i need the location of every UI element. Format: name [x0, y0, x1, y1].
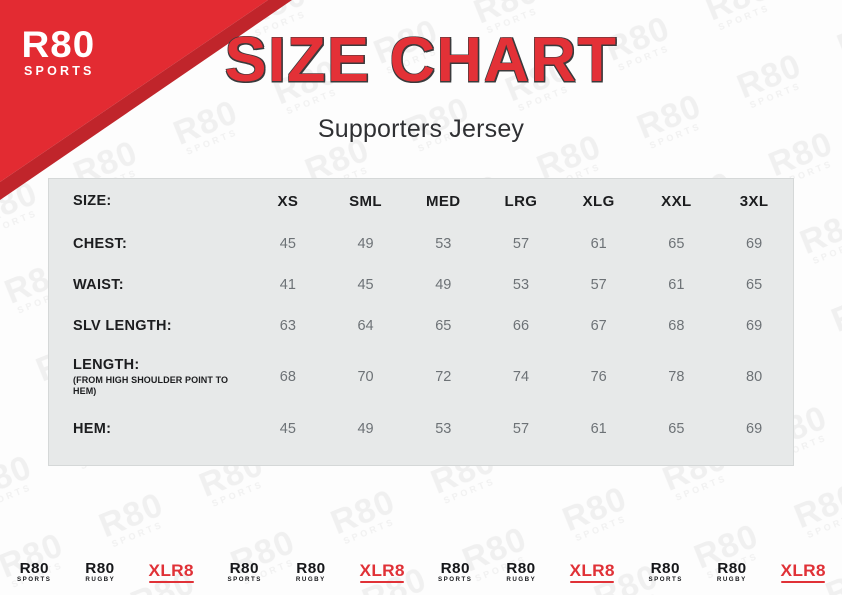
measurement-value: 61: [638, 264, 716, 305]
measurement-value: 61: [560, 223, 638, 264]
measurement-value: 68: [249, 346, 327, 408]
title-block: SIZE CHART Supporters Jersey: [0, 0, 842, 144]
footer-logo-underline: [570, 581, 614, 583]
table-row: HEM:45495357616569: [49, 408, 793, 449]
footer-logo-main: R80: [227, 561, 262, 576]
footer-logo-r80-sports: R80SPORTS: [17, 561, 51, 583]
footer-logo-main: XLR8: [359, 562, 404, 579]
measurement-value: 63: [249, 305, 327, 346]
footer-logo-sub: RUGBY: [85, 577, 115, 583]
row-label: LENGTH:(FROM HIGH SHOULDER POINT TO HEM): [49, 346, 249, 408]
measurement-value: 57: [482, 223, 560, 264]
size-column-header-med: MED: [404, 179, 482, 223]
footer-logo-sub: SPORTS: [438, 577, 472, 583]
size-header-label: SIZE:: [49, 179, 249, 223]
footer-logo-r80-sports: R80SPORTS: [227, 561, 261, 583]
size-column-header-xlg: XLG: [560, 179, 638, 223]
footer-logo-xlr8: XLR8: [570, 562, 614, 583]
footer-logo-underline: [149, 581, 193, 583]
footer-logo-r80-rugby: R80RUGBY: [296, 561, 326, 583]
footer-logo-main: R80: [648, 561, 683, 576]
measurement-value: 69: [715, 408, 793, 449]
footer-logo-strip: R80SPORTSR80RUGBYXLR8R80SPORTSR80RUGBYXL…: [0, 549, 842, 595]
footer-logo-sub: SPORTS: [648, 577, 682, 583]
table-header-row: SIZE:XSSMLMEDLRGXLGXXL3XL: [49, 179, 793, 223]
size-column-header-xs: XS: [249, 179, 327, 223]
footer-logo-sub: RUGBY: [717, 577, 747, 583]
footer-logo-sub: RUGBY: [506, 577, 536, 583]
footer-logo-xlr8: XLR8: [149, 562, 193, 583]
measurement-value: 49: [327, 223, 405, 264]
measurement-value: 49: [404, 264, 482, 305]
measurement-value: 61: [560, 408, 638, 449]
size-column-header-xxl: XXL: [638, 179, 716, 223]
measurement-value: 41: [249, 264, 327, 305]
footer-logo-sub: RUGBY: [296, 577, 326, 583]
measurement-value: 78: [638, 346, 716, 408]
size-chart-table-container: SIZE:XSSMLMEDLRGXLGXXL3XLCHEST:454953576…: [48, 178, 794, 466]
measurement-value: 65: [715, 264, 793, 305]
table-row: WAIST:41454953576165: [49, 264, 793, 305]
measurement-value: 57: [482, 408, 560, 449]
measurement-value: 70: [327, 346, 405, 408]
footer-logo-xlr8: XLR8: [360, 562, 404, 583]
measurement-value: 74: [482, 346, 560, 408]
size-column-header-3xl: 3XL: [715, 179, 793, 223]
measurement-value: 45: [249, 223, 327, 264]
measurement-value: 69: [715, 305, 793, 346]
measurement-value: 64: [327, 305, 405, 346]
footer-logo-xlr8: XLR8: [781, 562, 825, 583]
footer-logo-main: R80: [17, 561, 52, 576]
table-row: CHEST:45495357616569: [49, 223, 793, 264]
footer-logo-r80-sports: R80SPORTS: [438, 561, 472, 583]
measurement-value: 53: [404, 408, 482, 449]
size-column-header-sml: SML: [327, 179, 405, 223]
footer-logo-main: XLR8: [780, 562, 825, 579]
measurement-value: 66: [482, 305, 560, 346]
row-label-text: SLV LENGTH:: [73, 318, 172, 334]
table-row: SLV LENGTH:63646566676869: [49, 305, 793, 346]
footer-logo-main: R80: [438, 561, 473, 576]
measurement-value: 80: [715, 346, 793, 408]
row-label-text: CHEST:: [73, 236, 127, 252]
measurement-value: 65: [404, 305, 482, 346]
row-label-note: (FROM HIGH SHOULDER POINT TO HEM): [73, 375, 249, 398]
row-label: WAIST:: [49, 264, 249, 305]
measurement-value: 45: [249, 408, 327, 449]
measurement-value: 68: [638, 305, 716, 346]
footer-logo-main: R80: [85, 561, 115, 576]
measurement-value: 53: [482, 264, 560, 305]
footer-logo-main: XLR8: [149, 562, 194, 579]
measurement-value: 53: [404, 223, 482, 264]
row-label: SLV LENGTH:: [49, 305, 249, 346]
footer-logo-underline: [360, 581, 404, 583]
footer-logo-r80-rugby: R80RUGBY: [85, 561, 115, 583]
measurement-value: 69: [715, 223, 793, 264]
measurement-value: 65: [638, 408, 716, 449]
footer-logo-main: XLR8: [570, 562, 615, 579]
row-label-text: HEM:: [73, 421, 111, 437]
measurement-value: 76: [560, 346, 638, 408]
measurement-value: 45: [327, 264, 405, 305]
row-label-text: WAIST:: [73, 277, 124, 293]
page-title: SIZE CHART: [0, 24, 842, 96]
row-label: CHEST:: [49, 223, 249, 264]
footer-logo-main: R80: [296, 561, 326, 576]
size-chart-table: SIZE:XSSMLMEDLRGXLGXXL3XLCHEST:454953576…: [49, 179, 793, 495]
footer-logo-main: R80: [717, 561, 747, 576]
footer-logo-r80-rugby: R80RUGBY: [717, 561, 747, 583]
size-chart-page: R80 SPORTS R80 SPORTS SIZE CHART Support…: [0, 0, 842, 595]
footer-logo-r80-sports: R80SPORTS: [648, 561, 682, 583]
footer-logo-main: R80: [506, 561, 536, 576]
table-row: LENGTH:(FROM HIGH SHOULDER POINT TO HEM)…: [49, 346, 793, 408]
table-bottom-spacer: [49, 449, 793, 495]
measurement-value: 57: [560, 264, 638, 305]
size-column-header-lrg: LRG: [482, 179, 560, 223]
footer-logo-sub: SPORTS: [17, 577, 51, 583]
measurement-value: 72: [404, 346, 482, 408]
footer-logo-sub: SPORTS: [227, 577, 261, 583]
footer-logo-underline: [781, 581, 825, 583]
row-label-text: LENGTH:: [73, 357, 140, 373]
measurement-value: 49: [327, 408, 405, 449]
measurement-value: 67: [560, 305, 638, 346]
measurement-value: 65: [638, 223, 716, 264]
footer-logo-r80-rugby: R80RUGBY: [506, 561, 536, 583]
page-subtitle: Supporters Jersey: [0, 115, 842, 144]
row-label: HEM:: [49, 408, 249, 449]
